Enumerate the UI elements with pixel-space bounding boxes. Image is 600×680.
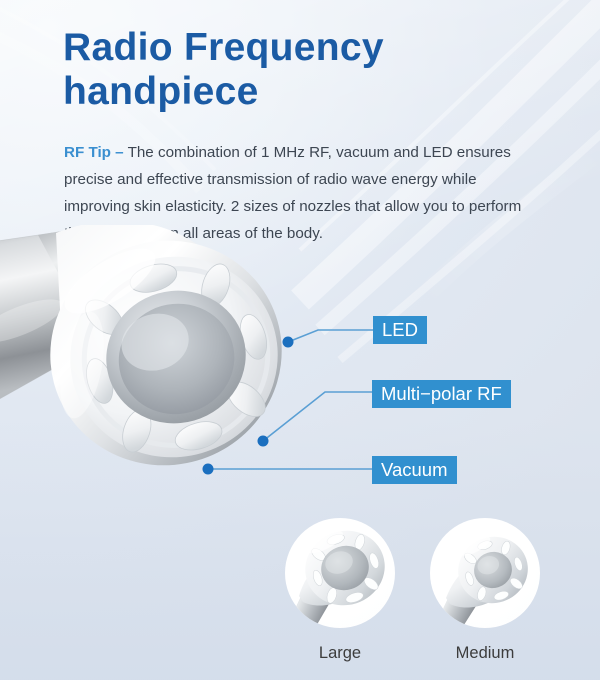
title-line-1: Radio Frequency <box>63 26 533 70</box>
nozzle-large-image <box>285 518 395 628</box>
callout-label-multipolar-rf[interactable]: Multi−polar RF <box>372 380 511 408</box>
page-title: Radio Frequency handpiece <box>63 26 533 114</box>
product-infographic: Radio Frequency handpiece RF Tip – The c… <box>0 0 600 680</box>
nozzle-thumbnail-large[interactable] <box>285 518 395 628</box>
nozzle-label-medium: Medium <box>430 644 540 663</box>
callout-label-led[interactable]: LED <box>373 316 427 344</box>
nozzle-thumbnail-medium[interactable] <box>430 518 540 628</box>
rf-handpiece-image <box>0 225 320 545</box>
callout-label-vacuum[interactable]: Vacuum <box>372 456 457 484</box>
nozzle-label-large: Large <box>285 644 395 663</box>
title-line-2: handpiece <box>63 70 533 114</box>
rf-tip-lead: RF Tip – <box>64 144 124 161</box>
nozzle-medium-image <box>430 518 540 628</box>
